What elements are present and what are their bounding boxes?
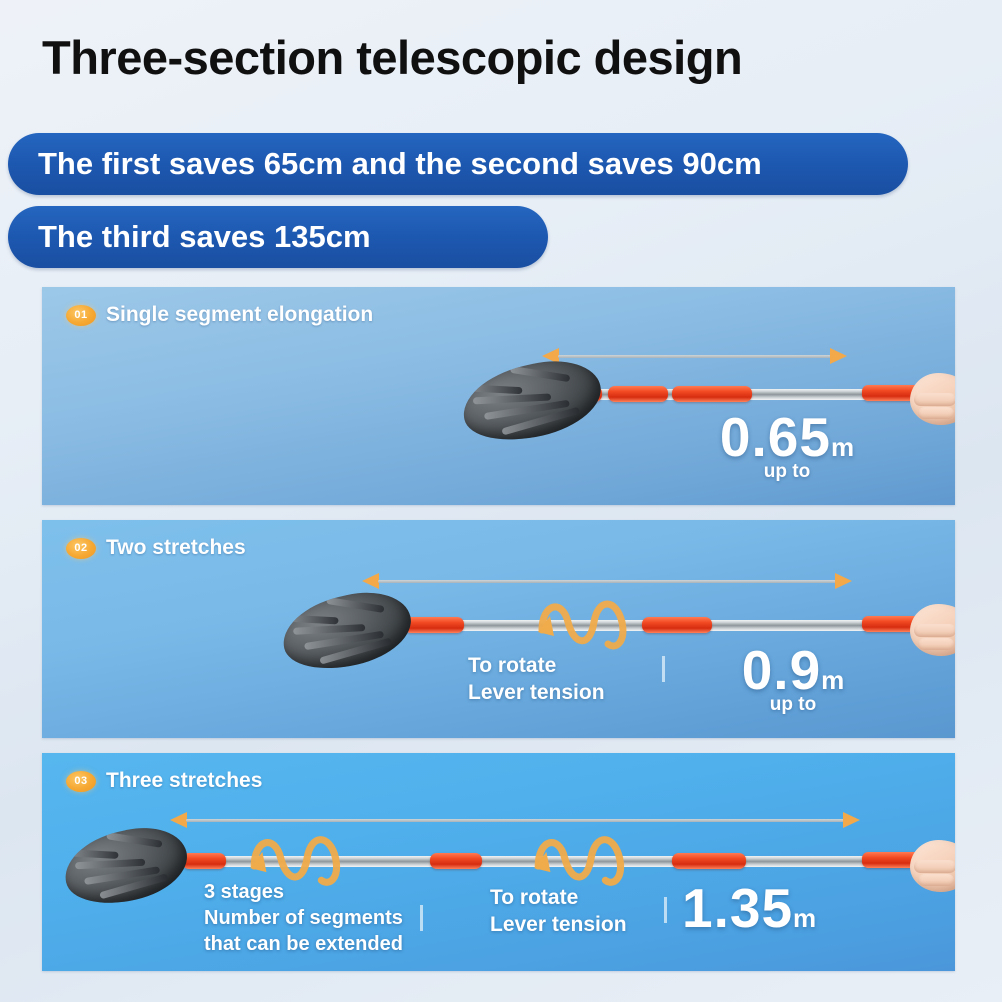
measurement-readout-1: 0.65m up to <box>662 405 912 483</box>
measurement-value: 0.9 <box>742 638 821 702</box>
mop-body <box>276 582 418 679</box>
rotate-note-3: To rotate Lever tension <box>490 884 627 938</box>
measurement-value: 0.65 <box>720 405 831 469</box>
mop-fringe <box>75 859 145 870</box>
measurement-value: 1.35 <box>682 876 793 940</box>
microfiber-mop-head-icon <box>462 365 602 437</box>
mop-fringe <box>462 384 522 394</box>
stages-note-line-2: Number of segments <box>204 905 403 931</box>
stages-note-line-3: that can be extended <box>204 931 403 957</box>
pole-segment-red <box>642 617 712 633</box>
mop-fringe <box>106 832 162 848</box>
mop-body <box>456 350 609 452</box>
savings-pill-secondary-label: The third saves 135cm <box>38 219 371 255</box>
rotate-note-line-2: Lever tension <box>490 911 627 938</box>
savings-pill-primary: The first saves 65cm and the second save… <box>8 133 908 195</box>
savings-pill-secondary: The third saves 135cm <box>8 206 548 268</box>
measurement-readout-3: 1.35m <box>682 876 932 940</box>
pole-segment-red <box>404 617 464 633</box>
pole-segment-red <box>672 386 752 402</box>
mop-fringe <box>64 849 118 859</box>
mop-fringe <box>293 624 365 635</box>
mop-fringe <box>510 366 570 382</box>
finger <box>914 624 955 637</box>
pole-segment-red <box>430 853 482 869</box>
stages-note-line-1: 3 stages <box>204 879 403 905</box>
note-divider <box>664 897 667 923</box>
panel-two-stretches: 02 Two stretches <box>42 520 955 738</box>
measurement-unit: m <box>831 432 854 462</box>
savings-pill-primary-label: The first saves 65cm and the second save… <box>38 146 762 182</box>
measurement-unit: m <box>821 665 844 695</box>
rotate-note-line-1: To rotate <box>490 884 627 911</box>
finger <box>918 638 954 650</box>
page-title: Three-section telescopic design <box>42 30 742 85</box>
mop-body <box>58 818 195 914</box>
mop-fringe <box>473 393 551 404</box>
pole-segment-red <box>182 853 226 869</box>
note-divider <box>662 656 665 682</box>
rotate-note-line-2: Lever tension <box>468 679 605 706</box>
microfiber-mop-head-icon <box>64 831 188 901</box>
stages-note: 3 stages Number of segments that can be … <box>204 879 403 957</box>
finger <box>914 393 955 406</box>
pole-segment-red <box>608 386 668 402</box>
mop-fringe <box>326 597 384 613</box>
rotate-note-2: To rotate Lever tension <box>468 652 605 706</box>
note-divider <box>420 905 423 931</box>
panel-single-segment: 01 Single segment elongation <box>42 287 955 505</box>
rotate-note-line-1: To rotate <box>468 652 605 679</box>
measurement-unit: m <box>793 903 816 933</box>
measurement-upto-label: up to <box>662 461 912 483</box>
finger <box>914 860 955 873</box>
finger <box>918 407 954 419</box>
measurement-upto-label: up to <box>678 694 908 716</box>
mop-fringe <box>282 614 338 624</box>
hand-gripping-handle-icon <box>904 590 955 680</box>
measurement-readout-2: 0.9m up to <box>678 638 908 716</box>
pole-segment-red <box>672 853 746 869</box>
microfiber-mop-head-icon <box>282 596 412 666</box>
panel-three-stretches: 03 Three stretches <box>42 753 955 971</box>
